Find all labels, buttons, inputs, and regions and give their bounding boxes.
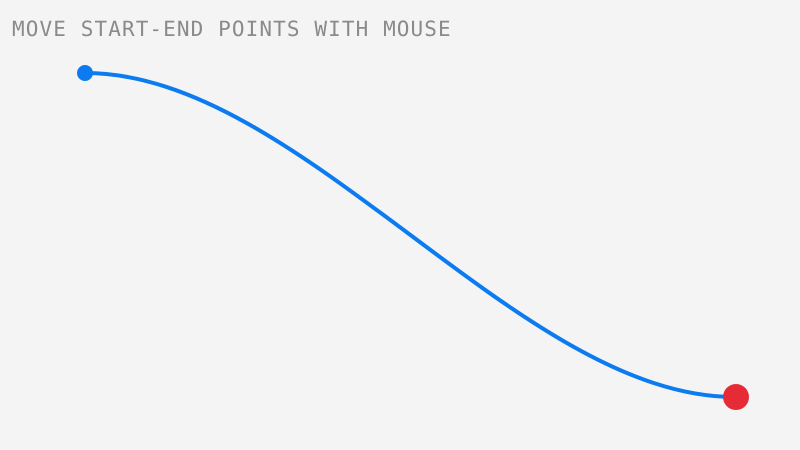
bezier-curve-path [85, 73, 735, 397]
start-point-handle[interactable] [77, 65, 93, 81]
bezier-curve-svg [0, 0, 800, 450]
end-point-handle[interactable] [723, 384, 749, 410]
bezier-canvas-stage[interactable]: MOVE START-END POINTS WITH MOUSE [0, 0, 800, 450]
